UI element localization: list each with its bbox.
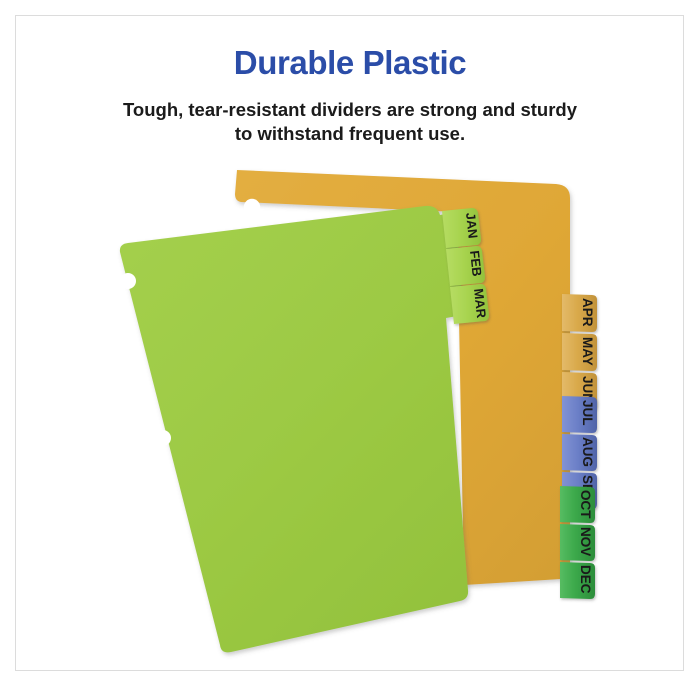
tab-label-jul: JUL (580, 400, 595, 426)
tab-label-aug: AUG (580, 437, 595, 467)
tab-label-feb: FEB (467, 250, 485, 277)
punch-hole-green-top (120, 273, 136, 289)
punch-hole-green-bottom (177, 590, 193, 606)
product-photo: APR MAY JUN JUL AUG SEP OCT NOV DEC (16, 16, 683, 670)
green-sheet-body (120, 206, 468, 652)
tab-label-may: MAY (580, 337, 595, 366)
punch-hole-orange (244, 199, 260, 215)
product-promo-image: Durable Plastic Tough, tear-resistant di… (0, 0, 700, 700)
green-divider-sheet (120, 206, 468, 652)
tab-label-jan: JAN (463, 212, 481, 239)
tab-label-apr: APR (580, 298, 595, 327)
punch-hole-green-middle (155, 430, 171, 446)
tab-label-oct: OCT (578, 490, 593, 519)
tab-label-mar: MAR (471, 288, 489, 320)
tab-label-dec: DEC (578, 565, 593, 594)
tab-label-nov: NOV (578, 527, 593, 556)
divider-illustration: APR MAY JUN JUL AUG SEP OCT NOV DEC (16, 16, 683, 670)
